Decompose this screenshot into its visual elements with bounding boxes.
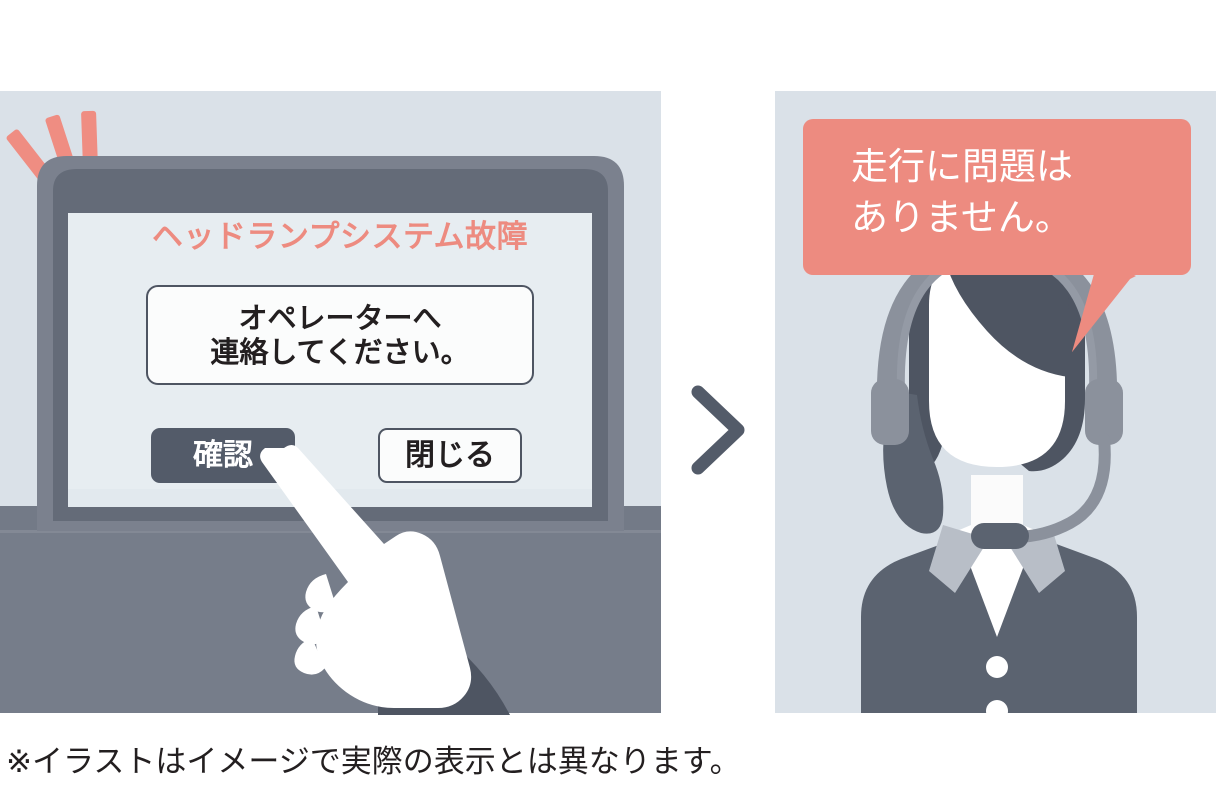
headset-earcup-left xyxy=(871,379,909,445)
headset-mic-capsule xyxy=(971,523,1029,549)
screen-message-box: オペレーターへ 連絡してください。 xyxy=(146,285,534,385)
illustration-stage: ヘッドランプシステム故障 オペレーターへ 連絡してください。 確認 閉じる xyxy=(0,0,1216,810)
screen-message-line-1: オペレーターへ xyxy=(238,302,441,334)
pointing-hand-icon xyxy=(230,440,540,715)
operator-speech-bubble: 走行に問題は ありません。 xyxy=(803,119,1191,275)
screen-message-line-2: 連絡してください。 xyxy=(210,336,469,368)
screen-alert-title: ヘッドランプシステム故障 xyxy=(72,222,608,253)
speech-bubble-tail-icon xyxy=(1072,274,1136,352)
footnote-caption: ※イラストはイメージで実際の表示とは異なります。 xyxy=(6,744,741,781)
speech-bubble-line-2: ありません。 xyxy=(851,192,1191,243)
chevron-right-icon xyxy=(680,382,760,478)
jacket-button xyxy=(986,656,1008,678)
speech-bubble-line-1: 走行に問題は xyxy=(851,141,1191,192)
